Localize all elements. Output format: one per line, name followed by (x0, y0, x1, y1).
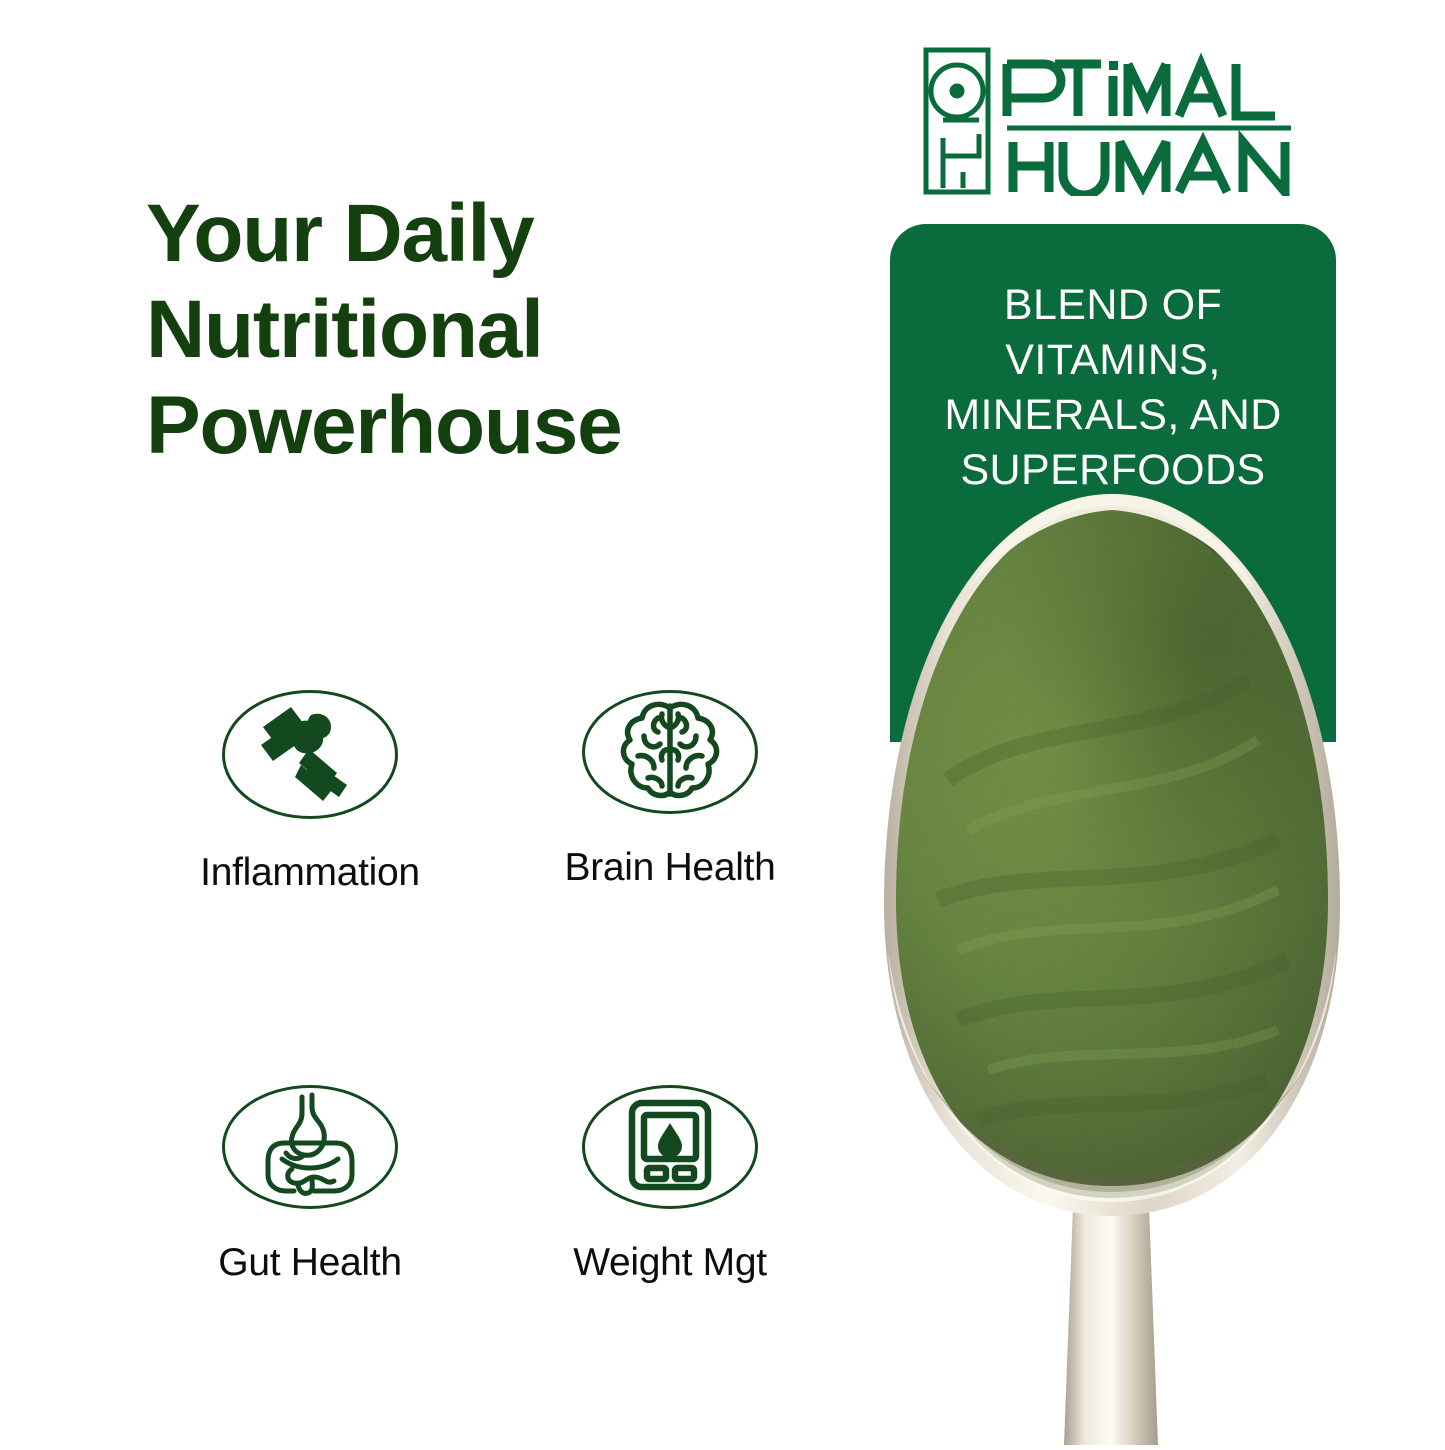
blend-badge-text: BLEND OF VITAMINS, MINERALS, AND SUPERFO… (890, 278, 1336, 498)
benefit-label: Brain Health (564, 846, 775, 890)
benefit-item-gut-health: Gut Health (140, 1085, 480, 1285)
blend-badge-panel: BLEND OF VITAMINS, MINERALS, AND SUPERFO… (890, 224, 1336, 742)
brain-icon (614, 694, 726, 811)
benefit-label: Weight Mgt (573, 1241, 767, 1285)
page-title: Your Daily Nutritional Powerhouse (146, 186, 866, 474)
joint-bone-icon (251, 693, 369, 816)
benefits-grid: Inflammation (140, 690, 840, 1285)
benefit-label: Inflammation (200, 851, 420, 895)
benefit-icon-circle (582, 690, 758, 814)
benefit-label: Gut Health (218, 1241, 401, 1285)
benefit-icon-circle (222, 690, 398, 819)
benefit-icon-circle (222, 1085, 398, 1209)
product-marketing-card: Your Daily Nutritional Powerhouse BLEND … (0, 0, 1445, 1445)
stomach-intestine-icon (254, 1089, 366, 1206)
benefit-item-weight-mgt: Weight Mgt (500, 1085, 840, 1285)
optimal-human-logo (923, 46, 1308, 196)
glucose-meter-icon (618, 1093, 722, 1202)
benefit-item-inflammation: Inflammation (140, 690, 480, 890)
benefit-icon-circle (582, 1085, 758, 1209)
benefit-item-brain-health: Brain Health (500, 690, 840, 890)
